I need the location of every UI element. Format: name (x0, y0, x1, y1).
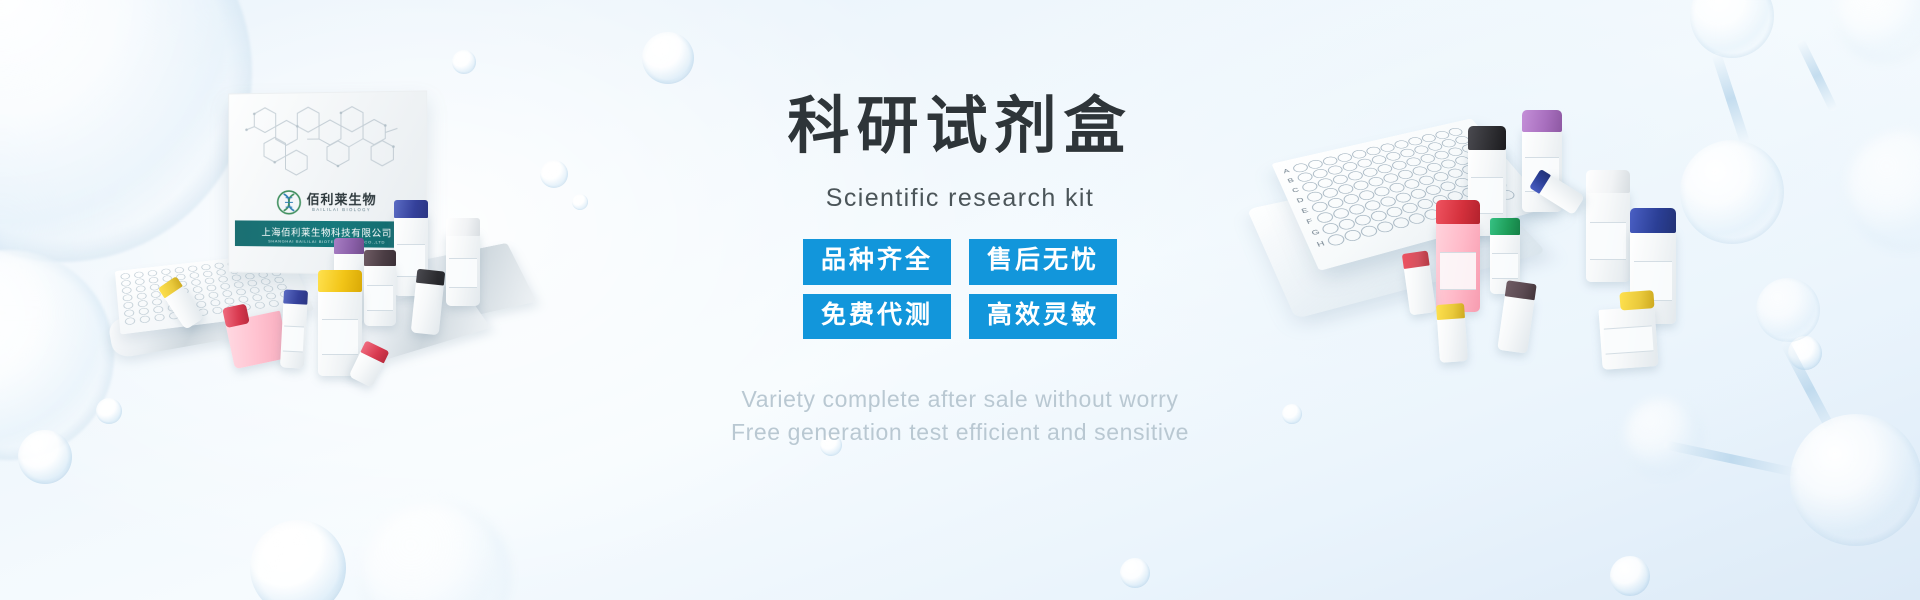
feature-badge-group: 品种齐全 售后无忧 免费代测 高效灵敏 (803, 239, 1117, 339)
banner-text-block: 科研试剂盒 Scientific research kit 品种齐全 售后无忧 … (0, 0, 1920, 600)
hero-banner: 佰利莱生物 BAILILAI BIOLOGY 上海佰利莱生物科技有限公司 SHA… (0, 0, 1920, 600)
status-badge[interactable]: 品种齐全 (803, 239, 951, 285)
page-title: 科研试剂盒 (787, 96, 1132, 158)
status-badge[interactable]: 高效灵敏 (969, 294, 1117, 340)
tagline-block: Variety complete after sale without worr… (731, 383, 1189, 448)
status-badge[interactable]: 免费代测 (803, 294, 951, 340)
tagline-line-2: Free generation test efficient and sensi… (731, 416, 1189, 449)
tagline-line-1: Variety complete after sale without worr… (731, 383, 1189, 416)
page-subtitle: Scientific research kit (826, 184, 1094, 213)
status-badge[interactable]: 售后无忧 (969, 239, 1117, 285)
